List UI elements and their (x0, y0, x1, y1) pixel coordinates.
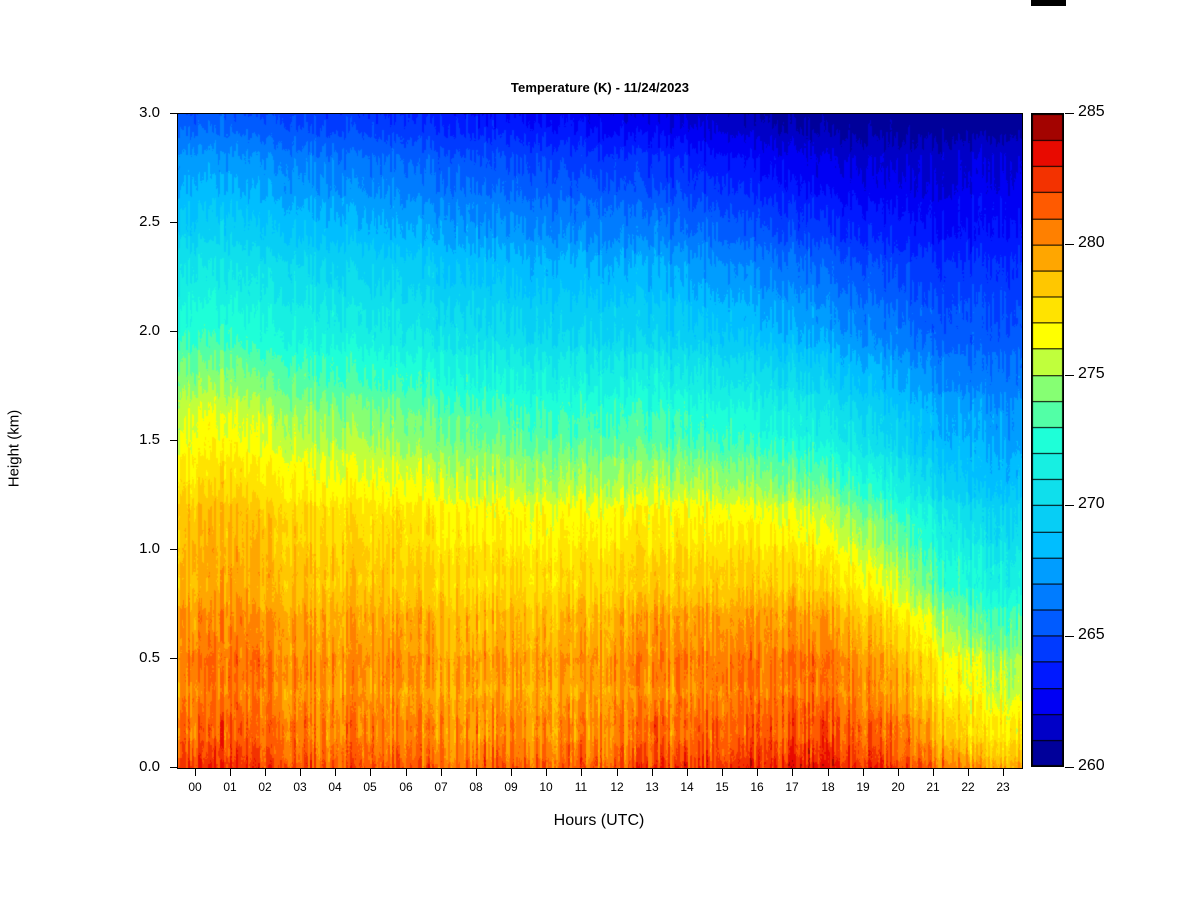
colorbar (1031, 113, 1064, 767)
y-axis-tick-label: 2.5 (112, 213, 160, 230)
x-axis-tick-mark (441, 768, 442, 776)
y-axis-tick-mark (170, 658, 177, 659)
x-axis-tick-label: 16 (737, 780, 777, 794)
x-axis-tick-label: 07 (421, 780, 461, 794)
x-axis-tick-mark (792, 768, 793, 776)
x-axis-tick-mark (687, 768, 688, 776)
x-axis-tick-label: 18 (808, 780, 848, 794)
y-axis-tick-label: 2.0 (112, 322, 160, 339)
y-axis-tick-label: 3.0 (112, 104, 160, 121)
x-axis-tick-label: 04 (315, 780, 355, 794)
colorbar-tick-mark (1065, 244, 1074, 245)
x-axis-tick-mark (406, 768, 407, 776)
y-axis-tick-mark (170, 113, 177, 114)
colorbar-tick-label: 265 (1078, 626, 1105, 644)
x-axis-tick-label: 20 (878, 780, 918, 794)
colorbar-tick-label: 275 (1078, 365, 1105, 383)
x-axis-tick-label: 13 (632, 780, 672, 794)
y-axis-title: Height (km) (6, 249, 23, 649)
x-axis-title: Hours (UTC) (177, 812, 1021, 830)
heatmap-plot-area (177, 113, 1023, 769)
top-black-bar-artifact (1031, 0, 1066, 6)
y-axis-tick-mark (170, 767, 177, 768)
y-axis-tick-mark (170, 222, 177, 223)
x-axis-tick-mark (933, 768, 934, 776)
x-axis-tick-label: 03 (280, 780, 320, 794)
x-axis-tick-label: 06 (386, 780, 426, 794)
x-axis-tick-label: 10 (526, 780, 566, 794)
x-axis-tick-mark (898, 768, 899, 776)
x-axis-tick-mark (757, 768, 758, 776)
x-axis-tick-mark (546, 768, 547, 776)
temperature-heatmap-canvas (178, 114, 1022, 768)
x-axis-tick-label: 15 (702, 780, 742, 794)
colorbar-tick-mark (1065, 113, 1074, 114)
colorbar-canvas (1031, 113, 1064, 767)
x-axis-tick-mark (863, 768, 864, 776)
x-axis-tick-label: 12 (597, 780, 637, 794)
x-axis-tick-label: 21 (913, 780, 953, 794)
colorbar-tick-mark (1065, 505, 1074, 506)
x-axis-tick-mark (230, 768, 231, 776)
colorbar-tick-label: 280 (1078, 234, 1105, 252)
x-axis-tick-mark (722, 768, 723, 776)
x-axis-tick-mark (968, 768, 969, 776)
x-axis-tick-label: 23 (983, 780, 1023, 794)
y-axis-tick-label: 0.5 (112, 649, 160, 666)
x-axis-tick-mark (617, 768, 618, 776)
x-axis-tick-mark (581, 768, 582, 776)
x-axis-tick-mark (476, 768, 477, 776)
x-axis-tick-label: 11 (561, 780, 601, 794)
y-axis-tick-label: 1.0 (112, 540, 160, 557)
colorbar-tick-mark (1065, 767, 1074, 768)
y-axis-tick-label: 0.0 (112, 758, 160, 775)
x-axis-tick-label: 02 (245, 780, 285, 794)
x-axis-tick-mark (195, 768, 196, 776)
y-axis-tick-mark (170, 549, 177, 550)
x-axis-tick-label: 17 (772, 780, 812, 794)
colorbar-tick-mark (1065, 636, 1074, 637)
x-axis-tick-label: 09 (491, 780, 531, 794)
x-axis-tick-mark (335, 768, 336, 776)
x-axis-tick-mark (511, 768, 512, 776)
y-axis-tick-label: 1.5 (112, 431, 160, 448)
x-axis-tick-mark (265, 768, 266, 776)
x-axis-tick-label: 05 (350, 780, 390, 794)
y-axis-tick-mark (170, 440, 177, 441)
x-axis-tick-label: 19 (843, 780, 883, 794)
colorbar-tick-label: 270 (1078, 495, 1105, 513)
colorbar-tick-label: 285 (1078, 103, 1105, 121)
x-axis-tick-label: 14 (667, 780, 707, 794)
x-axis-tick-mark (300, 768, 301, 776)
x-axis-tick-mark (1003, 768, 1004, 776)
colorbar-tick-label: 260 (1078, 757, 1105, 775)
x-axis-tick-mark (370, 768, 371, 776)
x-axis-tick-label: 22 (948, 780, 988, 794)
colorbar-tick-mark (1065, 375, 1074, 376)
page-title: Temperature (K) - 11/24/2023 (0, 80, 1200, 95)
x-axis-tick-mark (828, 768, 829, 776)
y-axis-tick-mark (170, 331, 177, 332)
y-axis-tick-labels: 0.00.51.01.52.02.53.0 (105, 0, 160, 900)
x-axis-tick-mark (652, 768, 653, 776)
x-axis-tick-label: 01 (210, 780, 250, 794)
x-axis-tick-label: 00 (175, 780, 215, 794)
x-axis-tick-label: 08 (456, 780, 496, 794)
